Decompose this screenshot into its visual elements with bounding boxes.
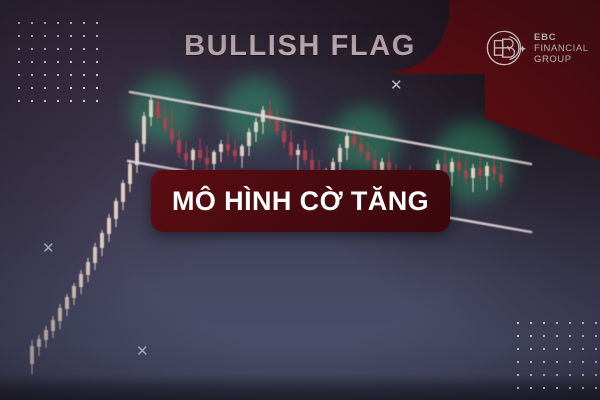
dot [582,335,584,337]
dot [96,74,98,76]
dot [18,100,20,102]
candle [79,270,83,294]
dot [517,322,519,324]
candle [303,140,307,165]
dot [543,335,545,337]
dot [569,335,571,337]
banner-label: MÔ HÌNH CỜ TĂNG [172,186,429,217]
dot [18,87,20,89]
candle [121,180,125,210]
dot [44,22,46,24]
dot [44,100,46,102]
candle [30,340,34,374]
dot [18,74,20,76]
dot [83,100,85,102]
dot [530,322,532,324]
dot [31,87,33,89]
background-bottom-shade [0,374,600,400]
dot-grid-bottom-right [517,322,600,400]
dot [556,387,558,389]
dot [31,74,33,76]
glow-flag-left [129,76,197,144]
dot [70,100,72,102]
candle [142,112,146,152]
dot [569,322,571,324]
dot [556,335,558,337]
dot [595,374,597,376]
dot [96,87,98,89]
dot [530,335,532,337]
dot [582,322,584,324]
candle [198,138,202,162]
dot [57,22,59,24]
dot [543,361,545,363]
candle [240,144,244,168]
glow-flag-mid [221,78,289,146]
candle [37,335,41,356]
dot [556,322,558,324]
candle [135,140,139,173]
dot [70,87,72,89]
dot [569,361,571,363]
dot [543,374,545,376]
candle [86,258,90,282]
dot [582,348,584,350]
dot [83,87,85,89]
candle [65,294,69,316]
dot [556,361,558,363]
dot [556,348,558,350]
dot [57,87,59,89]
dot [517,361,519,363]
dot [517,387,519,389]
dot [595,335,597,337]
dot [595,322,597,324]
dot [96,100,98,102]
x-marker-1-icon: ✕ [390,78,403,93]
candle [247,128,251,156]
candle [128,160,132,192]
dot [70,74,72,76]
candle [44,326,48,348]
translated-title-banner: MÔ HÌNH CỜ TĂNG [151,170,450,232]
dot [569,374,571,376]
candle [58,304,62,329]
candle [296,144,300,170]
candle [114,198,118,227]
candle [338,144,342,172]
dot [530,374,532,376]
page-title: BULLISH FLAG [0,30,600,63]
dot [582,374,584,376]
candle [184,142,188,166]
dot [96,22,98,24]
dot [582,387,584,389]
dot [517,374,519,376]
candle [233,140,237,162]
dot [543,348,545,350]
x-marker-2-icon: ✕ [42,241,55,256]
dot [543,387,545,389]
promo-graphic: EBC FINANCIAL GROUP ✕✕✕ BULLISH FLAG MÔ … [0,0,600,400]
candle [51,316,55,338]
dot [57,100,59,102]
dot [57,74,59,76]
candle [226,132,230,156]
dot [530,387,532,389]
dot [595,361,597,363]
dot [595,348,597,350]
dot [83,22,85,24]
dot [517,335,519,337]
dot [530,348,532,350]
dot [44,74,46,76]
dot [31,22,33,24]
dot [582,361,584,363]
dot [70,22,72,24]
candle [289,130,293,160]
dot [83,74,85,76]
dot [44,87,46,89]
dot [543,322,545,324]
dot [569,387,571,389]
dot [18,22,20,24]
candle [191,148,195,172]
candle [93,243,97,270]
candle [205,146,209,170]
dot [517,348,519,350]
candle [107,214,111,242]
x-marker-3-icon: ✕ [136,344,149,359]
candle [100,230,104,256]
candle [72,283,76,305]
dot [556,374,558,376]
dot [31,100,33,102]
dot [569,348,571,350]
dot [530,361,532,363]
candle [219,140,223,162]
dot [595,387,597,389]
